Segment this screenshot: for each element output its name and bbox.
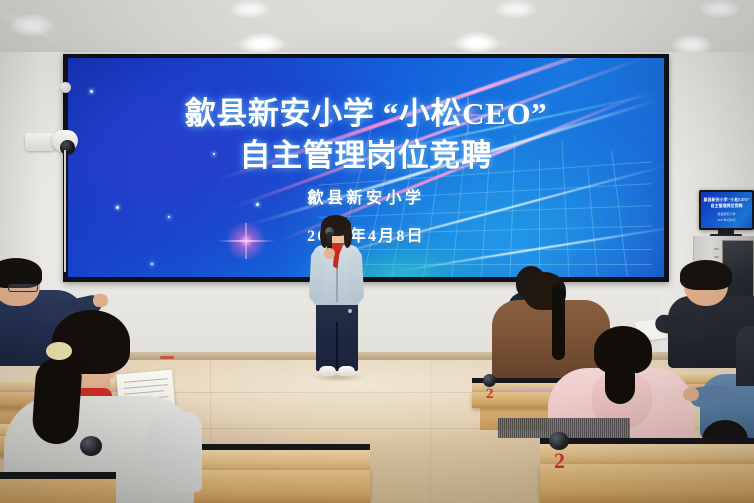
audience-girl-grey-shoulder-right [146, 412, 202, 492]
downlight-streak-2 [226, 43, 298, 46]
presenter-shoe-right [338, 366, 355, 376]
side-monitor-display: 歙县新安小学 “小松CEO” 自主管理岗位竞聘 歙县新安小学 202□年4月8日 [701, 192, 752, 228]
led-screen-display: 歙县新安小学 “小松CEO” 自主管理岗位竞聘 歙县新安小学 202□年4月8日 [68, 58, 664, 277]
side-monitor-org: 歙县新安小学 [701, 212, 752, 216]
side-monitor-title-2: 自主管理岗位竞聘 [701, 203, 752, 209]
seat-knob-front-left [80, 436, 102, 456]
audience-girl-ponytail [605, 360, 635, 404]
camera-cable [64, 150, 66, 272]
slide-text-block: 歙县新安小学 “小松CEO” 自主管理岗位竞聘 歙县新安小学 202□年4月8日 [68, 58, 664, 277]
presenter-shoe-left [319, 366, 336, 376]
desk-row-number-front-right: 2 [554, 448, 565, 474]
floor-marker [160, 356, 174, 359]
smoke-sensor-icon [60, 82, 71, 93]
classroom-photo-scene: 歙县新安小学 “小松CEO” 自主管理岗位竞聘 歙县新安小学 202□年4月8日… [0, 0, 754, 503]
presenter-arm-right [348, 250, 365, 303]
audience-boy-hair [680, 260, 732, 290]
side-monitor-frame: 歙县新安小学 “小松CEO” 自主管理岗位竞聘 歙县新安小学 202□年4月8日 [699, 190, 754, 230]
downlight-5 [495, 0, 537, 18]
desk-front-bottom-left [0, 478, 116, 503]
desk-front-right [540, 464, 754, 503]
camera-bracket [25, 133, 55, 151]
audience-man-hand [93, 294, 108, 307]
audience-right-edge-body [736, 326, 754, 386]
desk-front-right-top [540, 444, 754, 466]
desk-row-number-right: 2 [486, 386, 494, 403]
led-screen-frame: 歙县新安小学 “小松CEO” 自主管理岗位竞聘 歙县新安小学 202□年4月8日 [63, 54, 669, 282]
presenter-arm-left [309, 250, 326, 303]
slide-subtitle-date: 202□年4月8日 [68, 222, 664, 246]
presenter-hand [324, 248, 335, 259]
audience-girl-ponytail-left [31, 357, 83, 446]
downlight-streak-3 [443, 42, 513, 45]
slide-title-line-2: 自主管理岗位竞聘 [68, 130, 664, 175]
slide-title-line-1: 歙县新安小学 “小松CEO” [68, 88, 664, 133]
downlight-2 [230, 0, 270, 18]
uniform-logo [348, 309, 352, 313]
downlight-1 [10, 14, 54, 36]
glasses-icon [8, 284, 38, 292]
downlight-7 [700, 0, 740, 18]
audience-brown-long-hair [552, 284, 565, 360]
slide-subtitle-org: 歙县新安小学 [68, 184, 664, 208]
hair-tie-icon [46, 342, 72, 360]
camera-lens-icon [60, 140, 75, 155]
audience-denim-hand [683, 388, 699, 401]
ceiling [0, 0, 754, 58]
side-monitor-date: 202□年4月8日 [701, 218, 752, 222]
